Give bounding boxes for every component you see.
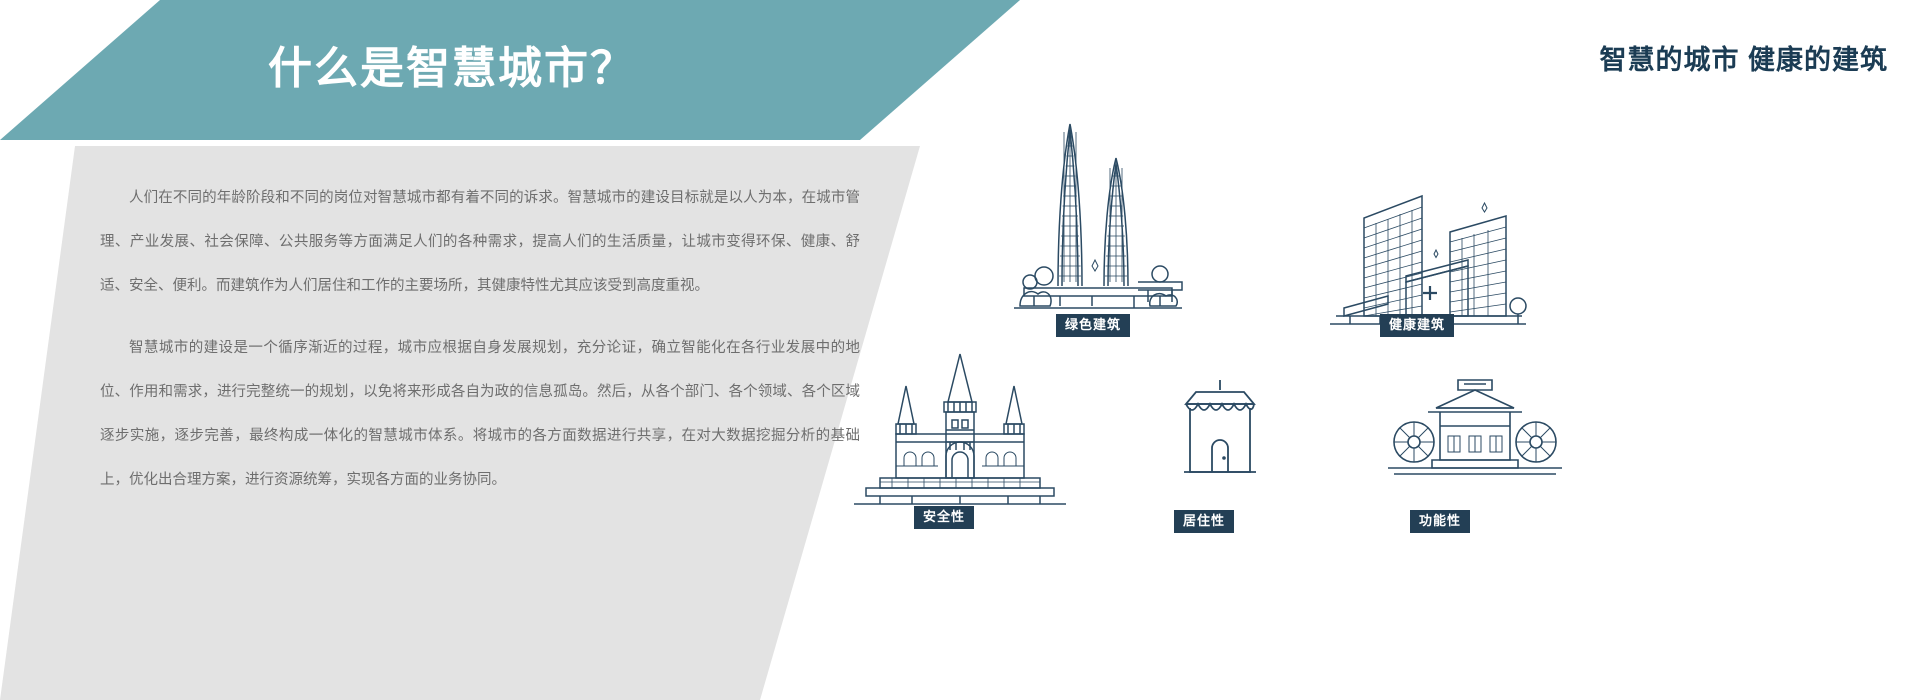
castle-icon (840, 346, 1080, 516)
caption-healthy-building: 健康建筑 (1380, 314, 1454, 337)
illustration-group: 绿色建筑 (830, 96, 1920, 700)
paragraph-1: 人们在不同的年龄阶段和不同的岗位对智慧城市都有着不同的诉求。智慧城市的建设目标就… (100, 176, 860, 308)
header-tagline: 智慧的城市 健康的建筑 (1599, 38, 1888, 77)
page-title: 什么是智慧城市？ (268, 32, 636, 96)
paragraph-2: 智慧城市的建设是一个循序渐近的过程，城市应根据自身发展规划，充分论证，确立智能化… (100, 326, 860, 502)
caption-safety: 安全性 (914, 506, 974, 529)
caption-functionality: 功能性 (1410, 510, 1470, 533)
caption-green-building: 绿色建筑 (1056, 314, 1130, 337)
body-copy: 人们在不同的年龄阶段和不同的岗位对智慧城市都有着不同的诉求。智慧城市的建设目标就… (100, 176, 860, 502)
pavilion-icon (1380, 368, 1570, 498)
caption-livability: 居住性 (1174, 510, 1234, 533)
hospital-tower-icon (1310, 166, 1540, 336)
twin-towers-icon (1000, 106, 1210, 316)
slide-canvas: 什么是智慧城市？ 智慧的城市 健康的建筑 人们在不同的年龄阶段和不同的岗位对智慧… (0, 0, 1920, 700)
house-tent-icon (1160, 368, 1280, 498)
